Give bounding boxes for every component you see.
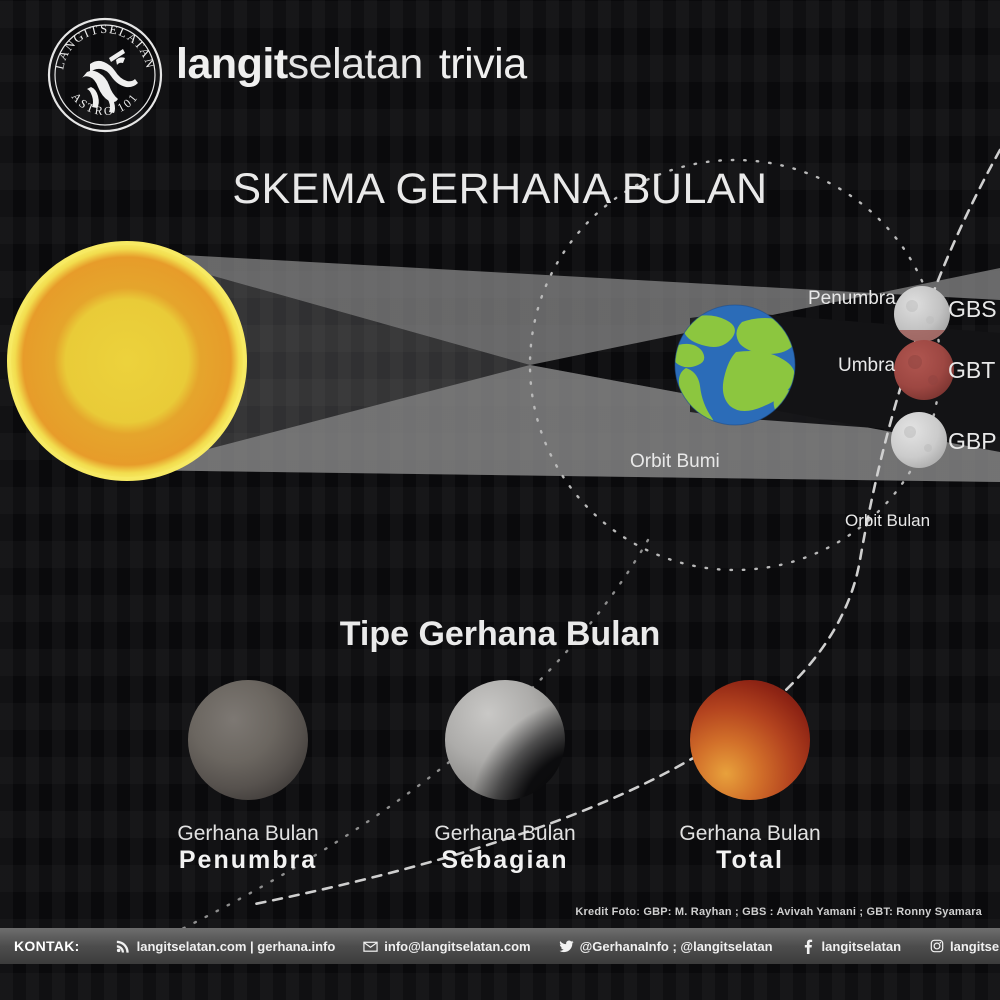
label-gbs: GBS xyxy=(948,296,997,323)
facebook-icon xyxy=(801,939,816,954)
footer-item-label: langitselatan xyxy=(822,939,901,954)
type-caption-top: Gerhana Bulan xyxy=(375,822,635,846)
type-caption-top: Gerhana Bulan xyxy=(620,822,880,846)
brand-light: selatan xyxy=(288,40,423,88)
footer-item-label: info@langitselatan.com xyxy=(384,939,530,954)
type-card-total: Gerhana Bulan Total xyxy=(620,680,880,875)
label-orbit-bumi: Orbit Bumi xyxy=(630,451,720,473)
footer-item-label: @GerhanaInfo ; @langitselatan xyxy=(580,939,773,954)
brand-suffix: trivia xyxy=(439,40,527,88)
type-caption-bottom: Sebagian xyxy=(375,846,635,875)
footer-item-facebook[interactable]: langitselatan xyxy=(787,928,915,964)
type-card-sebagian: Gerhana Bulan Sebagian xyxy=(375,680,635,875)
label-orbit-bulan: Orbit Bulan xyxy=(845,511,930,531)
label-penumbra: Penumbra xyxy=(808,288,896,310)
footer-item-label: langitselatan.com | gerhana.info xyxy=(137,939,336,954)
footer-item-email[interactable]: info@langitselatan.com xyxy=(349,928,544,964)
type-caption-bottom: Total xyxy=(620,846,880,875)
types-section-title: Tipe Gerhana Bulan xyxy=(0,615,1000,654)
moon-penumbral-photo xyxy=(188,680,308,800)
kontak-label: KONTAK: xyxy=(14,938,80,954)
footer-item-label: langitselatanmedia xyxy=(950,939,1000,954)
footer-item-website[interactable]: langitselatan.com | gerhana.info xyxy=(102,928,350,964)
photo-credits: Kredit Foto: GBP: M. Rayhan ; GBS : Aviv… xyxy=(575,906,982,918)
sun xyxy=(9,243,245,479)
mail-icon xyxy=(363,939,378,954)
brand-wordmark: langitselatantrivia xyxy=(176,40,527,89)
type-caption-top: Gerhana Bulan xyxy=(118,822,378,846)
type-card-penumbra: Gerhana Bulan Penumbra xyxy=(118,680,378,875)
label-gbp: GBP xyxy=(948,428,997,455)
moon-total-gbt xyxy=(894,340,954,400)
moon-partial-photo xyxy=(445,680,565,800)
rss-icon xyxy=(116,939,131,954)
footer-item-twitter[interactable]: @GerhanaInfo ; @langitselatan xyxy=(545,928,787,964)
instagram-icon xyxy=(929,939,944,954)
label-umbra: Umbra xyxy=(838,355,895,377)
moon-total-photo xyxy=(690,680,810,800)
header: LANGITSELATAN ASTRO 101 langitselatantri… xyxy=(0,0,1000,140)
type-caption-bottom: Penumbra xyxy=(118,846,378,875)
brand-bold: langit xyxy=(176,40,288,88)
page-title: SKEMA GERHANA BULAN xyxy=(0,165,1000,214)
twitter-icon xyxy=(559,939,574,954)
infographic-page: LANGITSELATAN ASTRO 101 langitselatantri… xyxy=(0,0,1000,1000)
langitselatan-seal-logo: LANGITSELATAN ASTRO 101 xyxy=(46,16,164,134)
footer-item-instagram[interactable]: langitselatanmedia xyxy=(915,928,1000,964)
contact-footer: KONTAK: langitselatan.com | gerhana.info… xyxy=(0,928,1000,964)
label-gbt: GBT xyxy=(948,357,995,384)
moon-penumbral-gbp xyxy=(891,412,947,468)
